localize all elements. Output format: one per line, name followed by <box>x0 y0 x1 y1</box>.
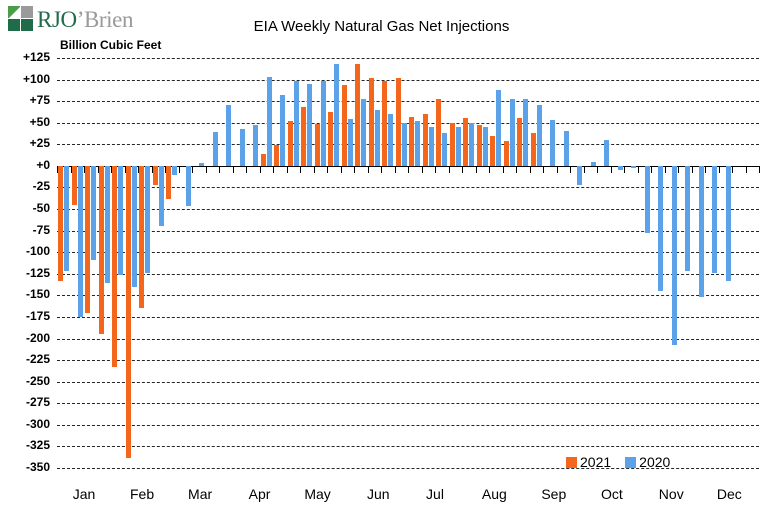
logo-quadrant-top-right <box>21 6 33 18</box>
x-axis-tick <box>449 166 450 173</box>
bar-2020-week-18[interactable] <box>294 81 299 166</box>
bar-2021-week-20[interactable] <box>315 124 320 166</box>
x-axis-month-label-aug: Aug <box>482 486 507 502</box>
bar-2021-week-21[interactable] <box>328 112 333 166</box>
bar-2021-week-3[interactable] <box>85 166 90 314</box>
bar-2020-week-24[interactable] <box>375 110 380 166</box>
bar-2021-week-2[interactable] <box>72 166 77 205</box>
x-axis-tick <box>111 166 112 173</box>
x-axis-tick <box>408 166 409 173</box>
x-axis-tick <box>327 166 328 173</box>
bar-2020-week-7[interactable] <box>145 166 150 273</box>
x-axis-tick <box>476 166 477 173</box>
bar-2021-week-24[interactable] <box>369 78 374 166</box>
legend-item-2021[interactable]: 2021 <box>566 454 611 470</box>
bar-2021-week-30[interactable] <box>450 123 455 166</box>
bar-2020-week-13[interactable] <box>226 105 231 165</box>
bar-2021-week-8[interactable] <box>153 166 158 185</box>
bar-2020-week-5[interactable] <box>118 166 123 275</box>
x-axis-tick <box>422 166 423 173</box>
bar-2020-week-48[interactable] <box>699 166 704 297</box>
bar-2020-week-6[interactable] <box>132 166 137 287</box>
y-axis-tick-label: +125 <box>0 50 50 64</box>
bar-2021-week-31[interactable] <box>463 118 468 165</box>
x-axis-tick <box>300 166 301 173</box>
y-axis-tick-label: -200 <box>0 331 50 345</box>
y-axis-tick-label: -125 <box>0 266 50 280</box>
bar-2021-week-29[interactable] <box>436 99 441 166</box>
x-axis-tick <box>260 166 261 173</box>
y-axis-tick-label: -250 <box>0 374 50 388</box>
y-axis-tick-label: -225 <box>0 352 50 366</box>
x-axis-tick <box>435 166 436 173</box>
x-axis-tick <box>489 166 490 173</box>
bar-2020-week-29[interactable] <box>442 133 447 166</box>
y-axis-tick-label: -350 <box>0 460 50 474</box>
y-axis-tick-label: -25 <box>0 179 50 193</box>
bar-2020-week-44[interactable] <box>645 166 650 233</box>
x-axis-tick <box>746 166 747 173</box>
x-axis-tick <box>570 166 571 173</box>
x-axis-tick <box>84 166 85 173</box>
bar-2021-week-26[interactable] <box>396 78 401 166</box>
x-axis-labels: JanFebMarAprMayJunJulAugSepOctNovDec <box>57 486 759 510</box>
bar-2020-week-45[interactable] <box>658 166 663 291</box>
x-axis-tick <box>314 166 315 173</box>
bar-2021-week-22[interactable] <box>342 85 347 166</box>
x-axis-tick <box>611 166 612 173</box>
x-axis-tick <box>462 166 463 173</box>
x-axis-tick <box>719 166 720 173</box>
bar-2021-week-28[interactable] <box>423 114 428 166</box>
bar-2020-week-38[interactable] <box>564 131 569 166</box>
x-axis-tick <box>354 166 355 173</box>
bar-2021-week-1[interactable] <box>58 166 63 281</box>
x-axis-tick <box>57 166 58 173</box>
bar-2020-week-27[interactable] <box>415 121 420 166</box>
bar-2021-week-32[interactable] <box>477 125 482 166</box>
bar-2021-week-9[interactable] <box>166 166 171 199</box>
x-axis-tick <box>759 166 760 173</box>
bar-2021-week-33[interactable] <box>490 136 495 166</box>
y-axis-tick-label: +100 <box>0 72 50 86</box>
bar-2020-week-9[interactable] <box>172 166 177 175</box>
bar-2021-week-5[interactable] <box>112 166 117 367</box>
y-axis-tick-label: +50 <box>0 115 50 129</box>
x-axis-month-label-jul: Jul <box>426 486 444 502</box>
x-axis-month-label-apr: Apr <box>249 486 271 502</box>
x-axis-tick <box>395 166 396 173</box>
x-axis-month-label-nov: Nov <box>659 486 684 502</box>
y-axis-tick-label: +75 <box>0 93 50 107</box>
bar-2020-week-37[interactable] <box>550 120 555 166</box>
x-axis-tick <box>125 166 126 173</box>
bar-2020-week-43[interactable] <box>631 166 636 169</box>
plot-area <box>57 58 759 468</box>
bar-2021-week-23[interactable] <box>355 64 360 166</box>
bars-layer <box>57 58 759 468</box>
bar-2020-week-46[interactable] <box>672 166 677 346</box>
x-axis-tick <box>705 166 706 173</box>
bar-2020-week-31[interactable] <box>469 123 474 166</box>
y-axis-tick-label: -100 <box>0 244 50 258</box>
x-axis-tick <box>503 166 504 173</box>
x-axis-tick <box>543 166 544 173</box>
x-axis-tick <box>638 166 639 173</box>
bar-2020-week-17[interactable] <box>280 95 285 166</box>
legend-item-2020[interactable]: 2020 <box>625 454 670 470</box>
logo-quadrant-top-left <box>8 6 20 18</box>
x-axis-tick <box>152 166 153 173</box>
y-axis-tick-label: -300 <box>0 417 50 431</box>
bar-2020-week-32[interactable] <box>483 127 488 166</box>
y-axis: +125+100+75+50+25+0-25-50-75-100-125-150… <box>0 58 52 468</box>
legend-swatch-2021 <box>566 457 577 468</box>
bar-2020-week-39[interactable] <box>577 166 582 185</box>
x-axis-tick <box>98 166 99 173</box>
chart-subtitle: Billion Cubic Feet <box>60 38 161 52</box>
x-axis-tick <box>179 166 180 173</box>
bar-2020-week-4[interactable] <box>105 166 110 283</box>
bar-2020-week-2[interactable] <box>78 166 83 317</box>
x-axis-tick <box>287 166 288 173</box>
y-axis-tick-label: -75 <box>0 223 50 237</box>
x-axis-tick <box>624 166 625 173</box>
bar-2020-week-41[interactable] <box>604 140 609 166</box>
x-axis-month-label-mar: Mar <box>188 486 212 502</box>
x-axis-tick <box>732 166 733 173</box>
x-axis-month-label-feb: Feb <box>130 486 154 502</box>
x-axis-month-label-may: May <box>304 486 330 502</box>
y-axis-tick-label: -175 <box>0 309 50 323</box>
x-axis-tick <box>584 166 585 173</box>
bar-2020-week-15[interactable] <box>253 125 258 166</box>
x-axis-tick <box>530 166 531 173</box>
bar-2021-week-35[interactable] <box>517 118 522 165</box>
x-axis-month-label-jan: Jan <box>73 486 96 502</box>
x-axis-tick <box>516 166 517 173</box>
x-axis-tick <box>233 166 234 173</box>
bar-2020-week-19[interactable] <box>307 84 312 166</box>
bar-2021-week-19[interactable] <box>301 107 306 166</box>
y-axis-tick-label: -275 <box>0 395 50 409</box>
bar-2020-week-28[interactable] <box>429 127 434 166</box>
bar-2020-week-12[interactable] <box>213 132 218 166</box>
bar-2020-week-16[interactable] <box>267 77 272 166</box>
x-axis-tick <box>368 166 369 173</box>
bar-2020-week-11[interactable] <box>199 163 204 166</box>
x-axis-tick <box>381 166 382 173</box>
bar-2020-week-21[interactable] <box>334 64 339 166</box>
x-axis-month-label-jun: Jun <box>367 486 390 502</box>
x-axis-month-label-oct: Oct <box>601 486 623 502</box>
bar-2021-week-4[interactable] <box>99 166 104 334</box>
bar-2021-week-6[interactable] <box>126 166 131 458</box>
bar-2020-week-40[interactable] <box>591 162 596 165</box>
x-axis-tick <box>206 166 207 173</box>
x-axis-tick <box>165 166 166 173</box>
x-axis-tick <box>678 166 679 173</box>
bar-2020-week-8[interactable] <box>159 166 164 226</box>
bar-2021-week-16[interactable] <box>261 154 266 166</box>
x-axis-tick <box>192 166 193 173</box>
bar-2020-week-26[interactable] <box>402 123 407 166</box>
bar-2021-week-36[interactable] <box>531 133 536 166</box>
bar-2021-week-25[interactable] <box>382 81 387 166</box>
x-axis-tick <box>651 166 652 173</box>
x-axis-tick <box>219 166 220 173</box>
bar-2021-week-34[interactable] <box>504 141 509 166</box>
chart-root: RJO’Brien Billion Cubic Feet EIA Weekly … <box>0 0 763 516</box>
y-axis-tick-label: -325 <box>0 438 50 452</box>
bar-2020-week-35[interactable] <box>523 99 528 165</box>
bar-2021-week-18[interactable] <box>288 121 293 166</box>
legend: 2021 2020 <box>566 454 670 470</box>
bar-2020-week-1[interactable] <box>64 166 69 271</box>
bar-2021-week-7[interactable] <box>139 166 144 308</box>
x-axis-tick <box>246 166 247 173</box>
x-axis-tick <box>597 166 598 173</box>
bar-2020-week-14[interactable] <box>240 129 245 166</box>
x-axis-tick <box>341 166 342 173</box>
page-title: EIA Weekly Natural Gas Net Injections <box>0 18 763 35</box>
bar-2020-week-47[interactable] <box>685 166 690 271</box>
bar-2020-week-22[interactable] <box>348 119 353 166</box>
x-axis-tick <box>71 166 72 173</box>
y-axis-tick-label: +25 <box>0 136 50 150</box>
bar-2020-week-34[interactable] <box>510 99 515 165</box>
y-axis-tick-label: -150 <box>0 287 50 301</box>
x-axis-tick <box>665 166 666 173</box>
x-axis-tick <box>273 166 274 173</box>
bar-2020-week-33[interactable] <box>496 90 501 166</box>
x-axis-tick <box>557 166 558 173</box>
bar-2020-week-36[interactable] <box>537 105 542 165</box>
bar-2020-week-20[interactable] <box>321 81 326 166</box>
y-axis-tick-label: +0 <box>0 158 50 172</box>
bar-2020-week-30[interactable] <box>456 127 461 166</box>
bar-2020-week-25[interactable] <box>388 114 393 166</box>
bar-2020-week-42[interactable] <box>618 166 623 170</box>
bar-2020-week-50[interactable] <box>726 166 731 281</box>
bar-2021-week-17[interactable] <box>274 145 279 166</box>
x-axis-tick <box>692 166 693 173</box>
x-axis-month-label-sep: Sep <box>541 486 566 502</box>
legend-label-2021: 2021 <box>580 454 611 470</box>
bar-2020-week-49[interactable] <box>712 166 717 273</box>
bar-2020-week-23[interactable] <box>361 99 366 166</box>
bar-2020-week-10[interactable] <box>186 166 191 206</box>
x-axis-tick <box>138 166 139 173</box>
legend-swatch-2020 <box>625 457 636 468</box>
bar-2020-week-3[interactable] <box>91 166 96 260</box>
x-axis-month-label-dec: Dec <box>717 486 742 502</box>
y-axis-tick-label: -50 <box>0 201 50 215</box>
legend-label-2020: 2020 <box>639 454 670 470</box>
bar-2021-week-27[interactable] <box>409 117 414 166</box>
